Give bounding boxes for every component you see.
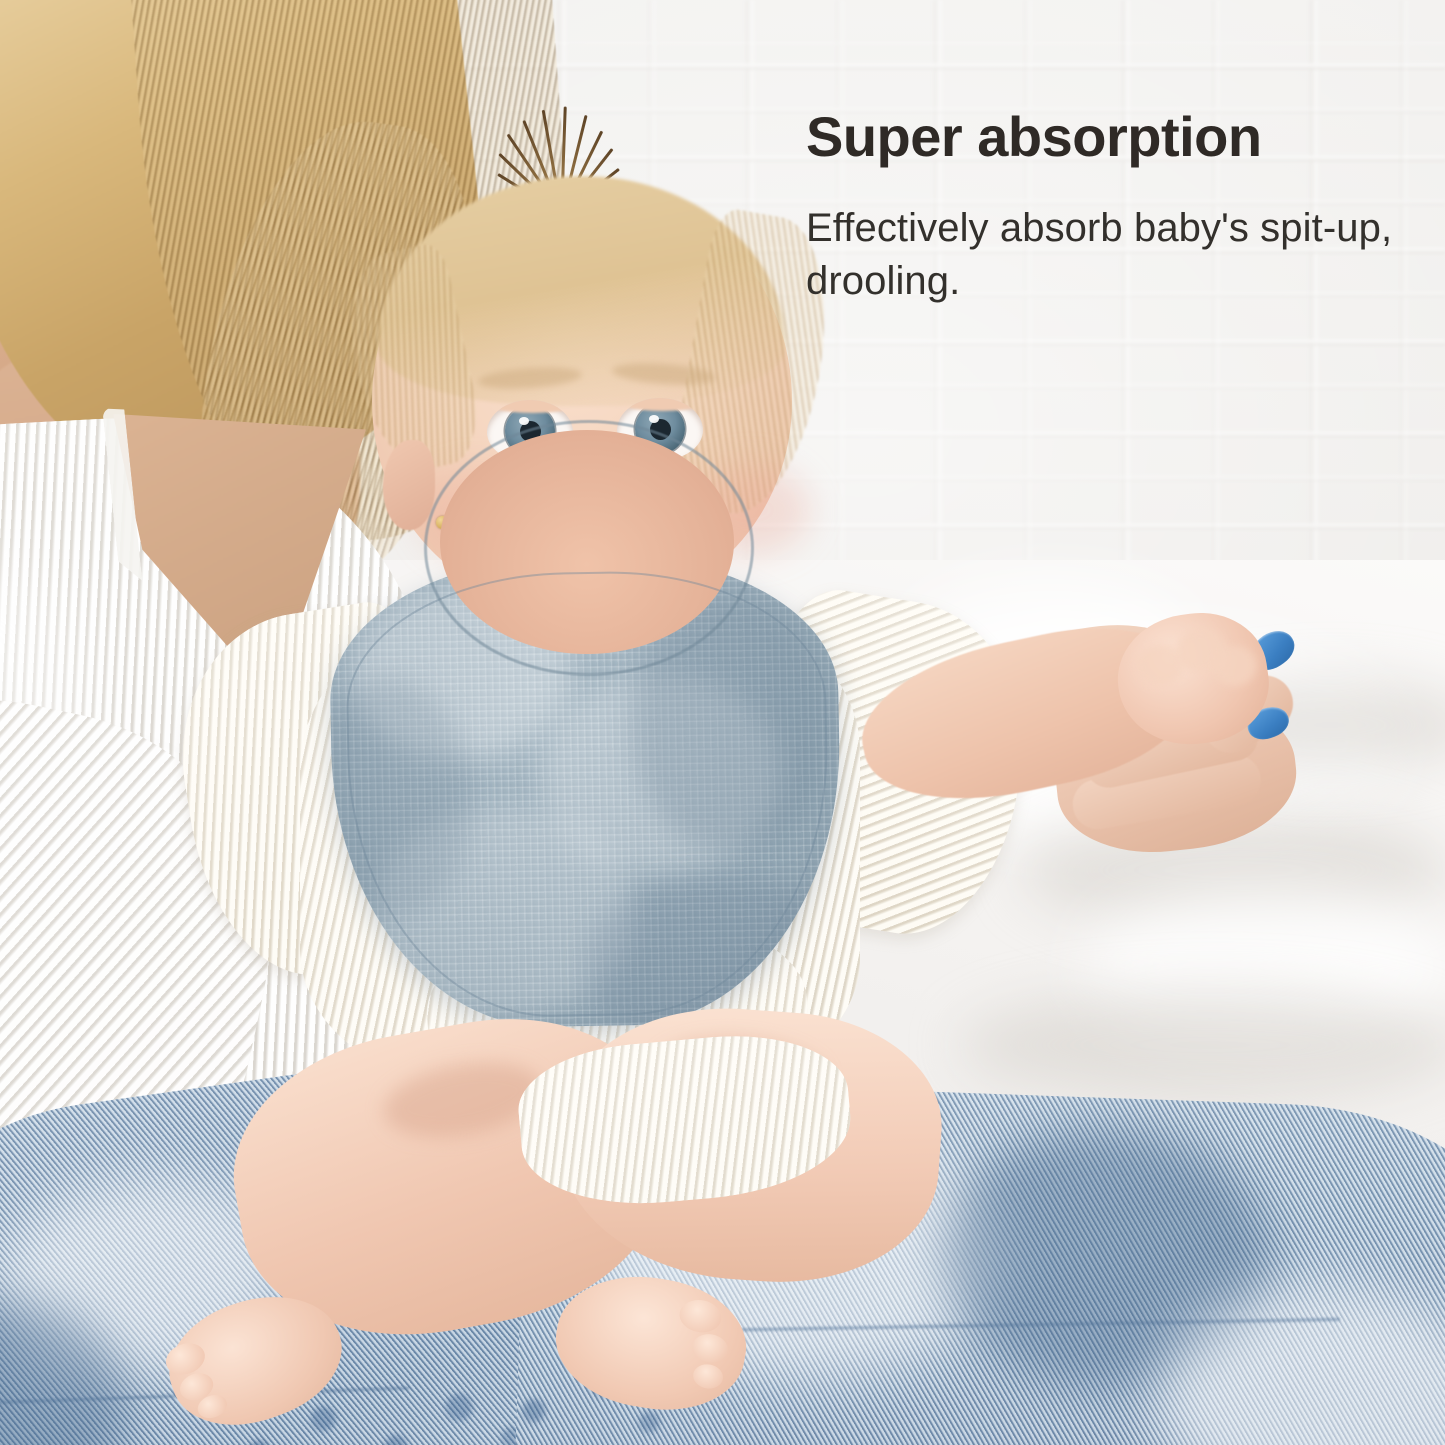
- headline: Super absorption: [806, 108, 1406, 166]
- eyelid: [617, 398, 703, 411]
- baby-ear: [383, 440, 435, 530]
- eye-glint: [649, 415, 659, 423]
- eyelid: [487, 400, 573, 413]
- bib-neckline-opening: [440, 430, 734, 654]
- rib-texture: [514, 1026, 857, 1214]
- subline: Effectively absorb baby's spit-up, drool…: [806, 202, 1406, 308]
- product-lifestyle-image: Super absorption Effectively absorb baby…: [0, 0, 1445, 1445]
- eye-glint: [519, 417, 529, 425]
- baby-diaper-cover: [514, 1026, 857, 1214]
- marketing-copy-block: Super absorption Effectively absorb baby…: [806, 108, 1406, 308]
